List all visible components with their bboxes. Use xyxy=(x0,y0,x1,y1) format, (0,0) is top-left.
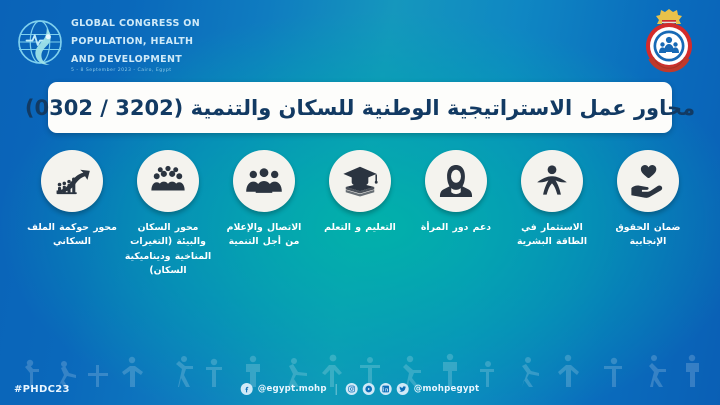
pillar-item[interactable]: الاستثمار في الطاقة البشرية xyxy=(508,150,596,250)
poster-canvas: GLOBAL CONGRESS ON POPULATION, HEALTH AN… xyxy=(0,0,720,405)
globe-health-logo-icon xyxy=(16,18,64,66)
pillar-item[interactable]: الاتصال والإعلام من أجل التنمية xyxy=(220,150,308,250)
instagram-icon[interactable] xyxy=(346,383,358,395)
logo-line-3: AND DEVELOPMENT xyxy=(71,54,182,65)
social-links: @egypt.mohp @mohpegypt xyxy=(241,383,480,395)
crowd-population-icon xyxy=(137,150,199,212)
pillar-item[interactable]: محور السكان والبيئة (التغيرات المناخية و… xyxy=(124,150,212,279)
pillar-label: التعليم و التعلم xyxy=(314,221,406,235)
hand-holding-heart-icon xyxy=(617,150,679,212)
facebook-icon[interactable] xyxy=(241,383,253,395)
logo-subtitle: 5 - 8 September 2023 - Cairo, Egypt xyxy=(71,68,200,73)
footer: #PHDC23 @egypt.mohp @mohpegypt xyxy=(0,377,720,405)
linkedin-icon[interactable] xyxy=(380,383,392,395)
pillar-label: ضمان الحقوق الإنجابية xyxy=(602,221,694,250)
title-card: محاور عمل الاستراتيجية الوطنية للسكان وا… xyxy=(48,82,672,133)
header: GLOBAL CONGRESS ON POPULATION, HEALTH AN… xyxy=(0,0,720,80)
pillars-row: محور حوكمة الملف السكاني محور السكان وال… xyxy=(28,150,692,310)
pillar-item[interactable]: محور حوكمة الملف السكاني xyxy=(28,150,116,250)
person-open-arms-icon xyxy=(521,150,583,212)
logo-line-1: GLOBAL CONGRESS ON xyxy=(71,18,200,29)
woman-figure-icon xyxy=(425,150,487,212)
pillar-item[interactable]: التعليم و التعلم xyxy=(316,150,404,235)
graduation-cap-books-icon xyxy=(329,150,391,212)
social-divider xyxy=(336,384,337,395)
pillar-item[interactable]: ضمان الحقوق الإنجابية xyxy=(604,150,692,250)
pillar-label: محور حوكمة الملف السكاني xyxy=(26,221,118,250)
global-congress-logo: GLOBAL CONGRESS ON POPULATION, HEALTH AN… xyxy=(16,12,200,73)
pillar-label: الاستثمار في الطاقة البشرية xyxy=(506,221,598,250)
three-people-group-icon xyxy=(233,150,295,212)
page-title: محاور عمل الاستراتيجية الوطنية للسكان وا… xyxy=(25,96,695,120)
pillar-label: دعم دور المرأة xyxy=(410,221,502,235)
event-hashtag: #PHDC23 xyxy=(14,384,70,395)
global-congress-logo-wordmark: GLOBAL CONGRESS ON POPULATION, HEALTH AN… xyxy=(71,12,200,73)
pillar-label: محور السكان والبيئة (التغيرات المناخية و… xyxy=(122,221,214,279)
twitter-icon[interactable] xyxy=(397,383,409,395)
pillar-label: الاتصال والإعلام من أجل التنمية xyxy=(218,221,310,250)
logo-line-2: POPULATION, HEALTH xyxy=(71,36,193,47)
facebook-handle[interactable]: @egypt.mohp xyxy=(258,384,327,394)
pillar-item[interactable]: دعم دور المرأة xyxy=(412,150,500,235)
youtube-icon[interactable] xyxy=(363,383,375,395)
egypt-ministry-of-health-emblem-icon xyxy=(634,6,704,74)
people-growth-arrow-icon xyxy=(41,150,103,212)
other-social-handle[interactable]: @mohpegypt xyxy=(414,384,480,394)
